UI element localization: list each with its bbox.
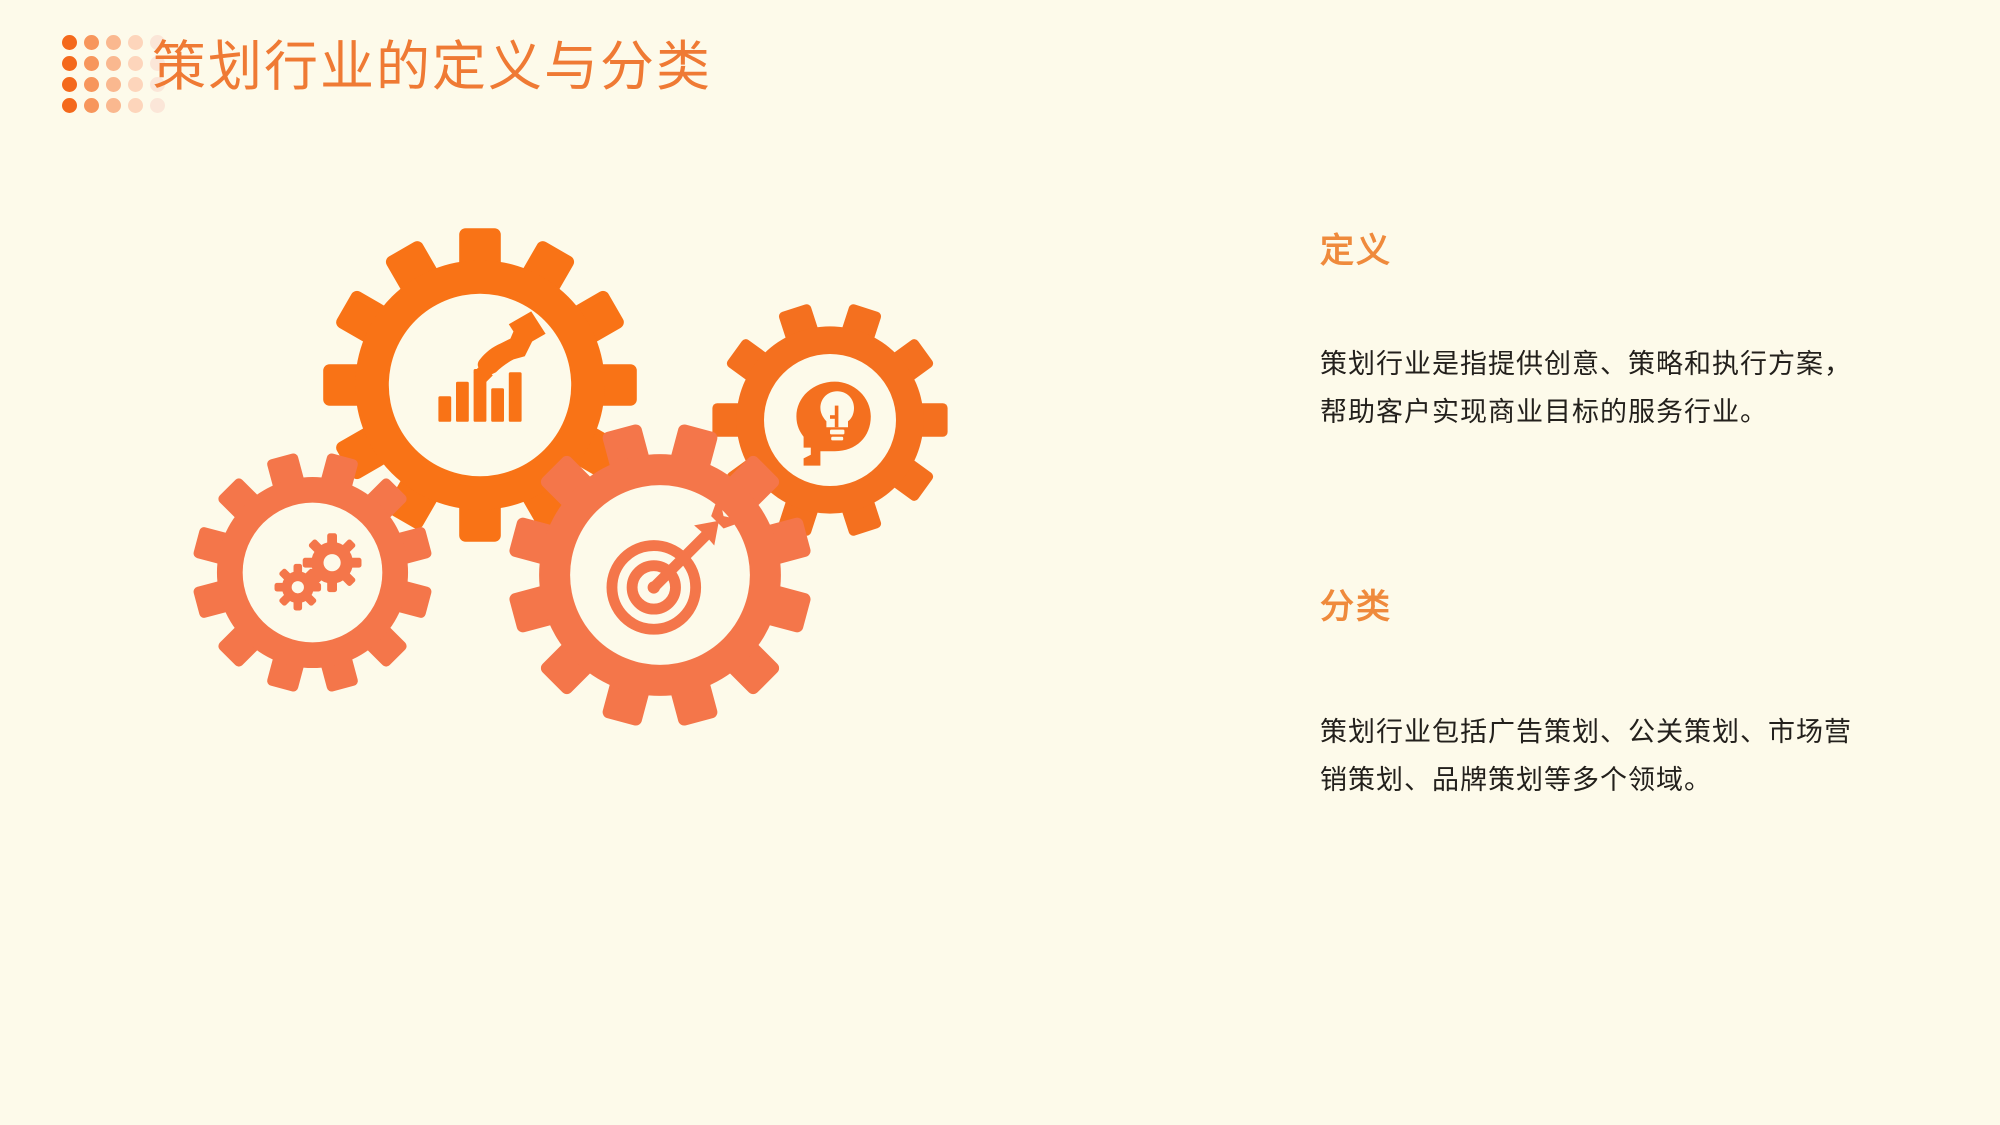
dot-grid-dot	[62, 77, 77, 92]
dot-grid-dot	[84, 77, 99, 92]
page-title: 策划行业的定义与分类	[152, 36, 712, 98]
dot-grid-dot	[84, 98, 99, 113]
dot-grid-dot	[106, 56, 121, 71]
section-heading-definition: 定义	[1320, 230, 1880, 274]
gear-cluster-illustration	[150, 200, 1000, 760]
dot-grid-dot	[106, 35, 121, 50]
dot-grid-dot	[84, 56, 99, 71]
dot-grid-dot	[62, 35, 77, 50]
content-column: 定义 策划行业是指提供创意、策略和执行方案，帮助客户实现商业目标的服务行业。 分…	[1320, 230, 1880, 804]
dot-grid-dot	[84, 35, 99, 50]
gear-small-gears	[190, 450, 435, 695]
dot-grid-dot	[150, 98, 165, 113]
dot-grid-dot	[128, 77, 143, 92]
dot-grid-dot	[62, 98, 77, 113]
dot-grid-dot	[128, 98, 143, 113]
section-heading-classification: 分类	[1320, 586, 1880, 630]
dot-grid-dot	[128, 35, 143, 50]
dot-grid-dot	[106, 98, 121, 113]
dot-grid-dot	[128, 56, 143, 71]
section-body-classification: 策划行业包括广告策划、公关策划、市场营销策划、品牌策划等多个领域。	[1320, 708, 1860, 804]
mini-gear-hole	[292, 581, 304, 593]
dot-grid-dot	[106, 77, 121, 92]
dot-grid-dot	[62, 56, 77, 71]
mini-gear-hole	[324, 554, 341, 571]
gear-target-arrow	[505, 420, 815, 730]
section-body-definition: 策划行业是指提供创意、策略和执行方案，帮助客户实现商业目标的服务行业。	[1320, 340, 1860, 436]
slide-root: 策划行业的定义与分类	[0, 0, 2000, 1125]
